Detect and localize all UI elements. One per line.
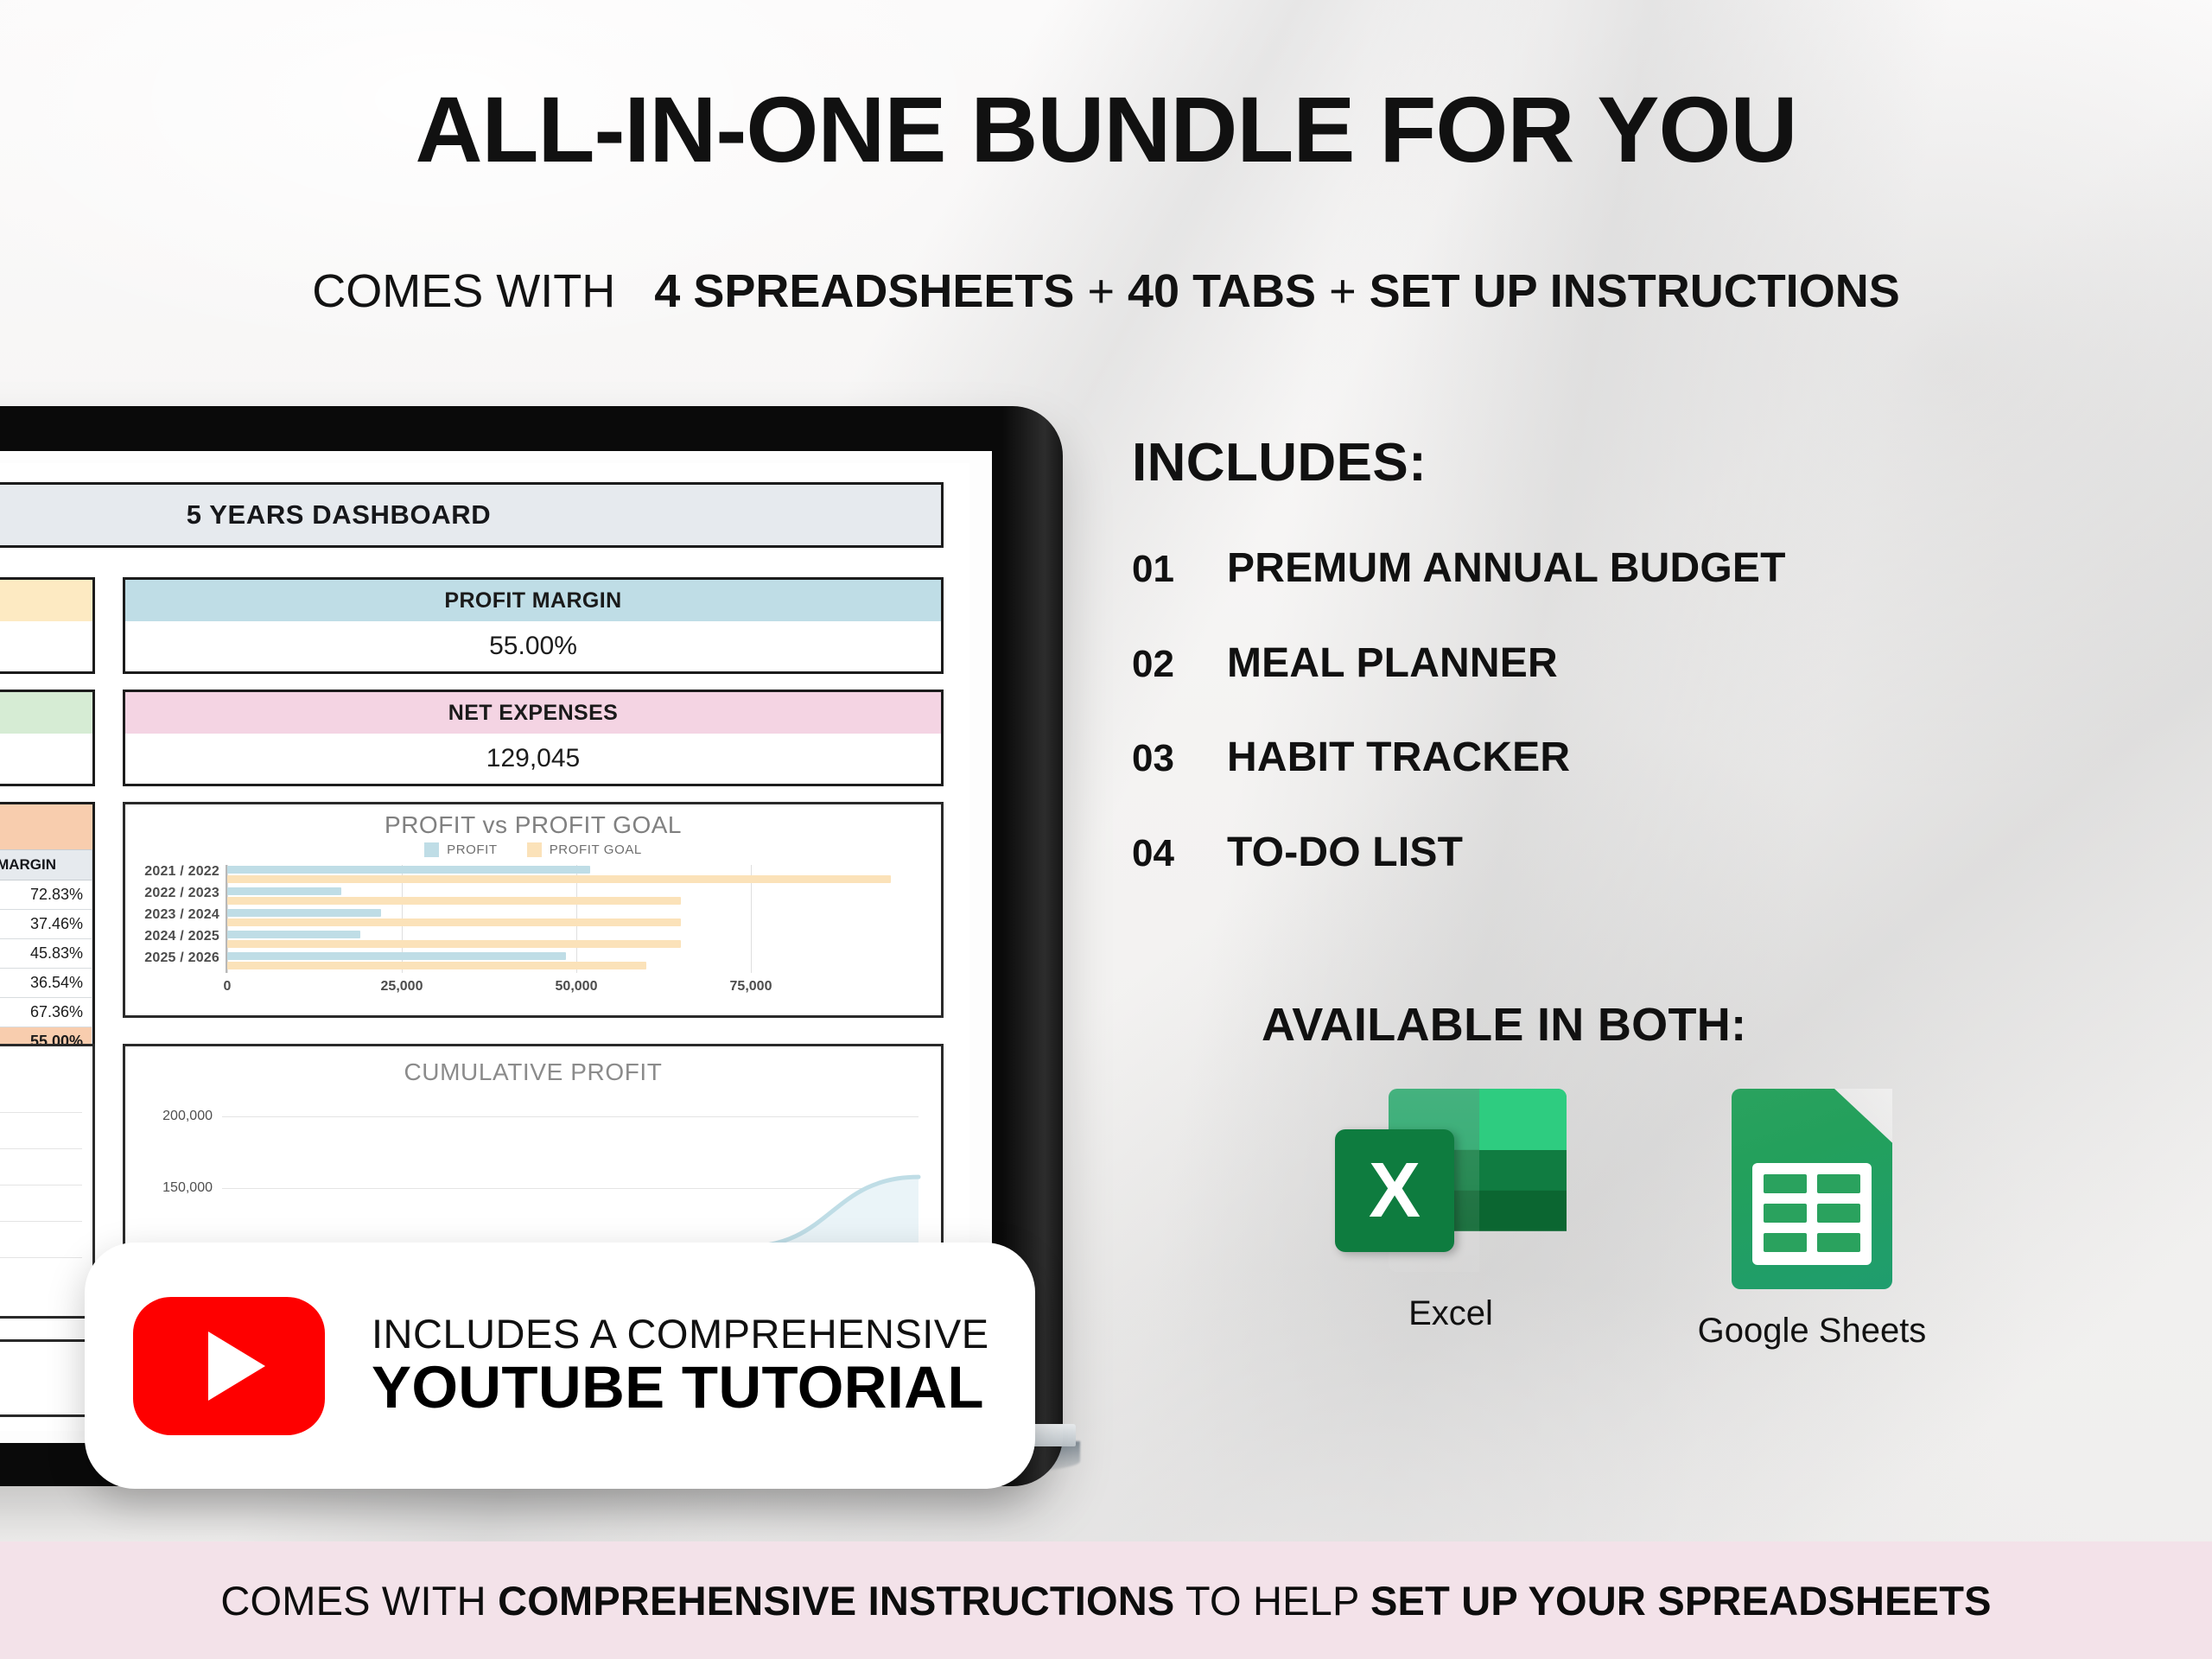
sheets-grid-cell — [1817, 1233, 1860, 1252]
bar-profit — [227, 952, 566, 960]
x-axis-tick-label: 75,000 — [730, 979, 772, 995]
kpi-card-loss: LOSS 5 — [0, 577, 95, 674]
cash-flow-legend: SES PROFIT — [0, 1080, 92, 1100]
table-row: 22,000.00 $ 65,000.00 45.83% — [0, 939, 92, 969]
includes-item-3: 03 HABIT TRACKER — [1132, 734, 1570, 781]
play-triangle-icon — [208, 1332, 265, 1401]
overview-table-panel: RVIEW PROFIT PROFIT GOAL MARGIN 51,920.0… — [0, 802, 95, 1059]
platform-excel: X Excel — [1331, 1089, 1571, 1351]
sheets-grid-row — [1764, 1233, 1860, 1252]
dashboard-title-bar: 5 YEARS DASHBOARD — [0, 482, 944, 548]
sheets-grid-cell — [1764, 1233, 1807, 1252]
includes-number-2: 02 — [1132, 643, 1227, 686]
youtube-badge-line1: INCLUDES A COMPREHENSIVE — [372, 1313, 989, 1356]
includes-number-1: 01 — [1132, 548, 1227, 591]
available-in-both-heading: AVAILABLE IN BOTH: — [1262, 998, 1746, 1052]
banner-bold-1: COMPREHENSIVE INSTRUCTIONS — [498, 1578, 1174, 1624]
legend-label-profit: PROFIT — [447, 842, 498, 857]
platform-logos: X Excel Google Sheets — [1331, 1089, 1970, 1351]
chart-legend: PROFIT PROFIT GOAL — [125, 842, 941, 857]
includes-heading: INCLUDES: — [1132, 432, 1427, 493]
bar-profit — [227, 866, 590, 874]
youtube-badge-line2: YOUTUBE TUTORIAL — [372, 1356, 989, 1419]
includes-item-2: 02 MEAL PLANNER — [1132, 639, 1558, 687]
kpi-label-loss: LOSS — [0, 580, 92, 621]
cell-margin: 67.36% — [0, 998, 92, 1027]
bar-group: 2022 / 2023 — [227, 887, 918, 907]
banner-lead: COMES WITH — [220, 1578, 486, 1624]
legend-label-profit-goal: PROFIT GOAL — [550, 842, 642, 857]
kpi-label-profit-margin: PROFIT MARGIN — [125, 580, 941, 621]
table-row: 19,000.00 $ 65,000.00 36.54% — [0, 969, 92, 998]
chart-title-cash-flow: LOW — [0, 1046, 92, 1080]
google-sheets-caption: Google Sheets — [1692, 1312, 1932, 1351]
bar-profit-goal — [227, 918, 681, 926]
legend-swatch-profit-goal — [527, 842, 542, 857]
panel-breakdown: AKDOW — [0, 1339, 95, 1417]
bar-group: 2021 / 2022 — [227, 865, 918, 886]
bottom-banner: COMES WITH COMPREHENSIVE INSTRUCTIONS TO… — [0, 1541, 2212, 1659]
table-header-row: PROFIT PROFIT GOAL MARGIN — [0, 850, 92, 880]
includes-label-1: PREMUM ANNUAL BUDGET — [1227, 544, 1786, 592]
includes-item-1: 01 PREMUM ANNUAL BUDGET — [1132, 544, 1786, 592]
excel-caption: Excel — [1331, 1294, 1571, 1333]
legend-item-profit: PROFIT — [424, 842, 498, 857]
y-axis-tick-label: 2023 / 2024 — [144, 907, 219, 923]
chart-title-cumulative-profit: CUMULATIVE PROFIT — [125, 1046, 941, 1086]
y-axis-tick-label: 2022 / 2023 — [144, 886, 219, 901]
bar-group: 2025 / 2026 — [227, 951, 918, 972]
x-axis-tick-label: 25,000 — [381, 979, 423, 995]
sheets-grid-cell — [1817, 1204, 1860, 1223]
kpi-value-profit-margin: 55.00% — [125, 621, 941, 671]
overview-title: RVIEW — [0, 804, 92, 849]
col-margin: MARGIN — [0, 850, 92, 880]
bar-group: 2023 / 2024 — [227, 908, 918, 929]
cell-margin: 36.54% — [0, 969, 92, 998]
kpi-value-income: 0 — [0, 734, 92, 784]
kpi-label-income: ME — [0, 692, 92, 734]
subtitle-plus-1: + — [1087, 265, 1115, 317]
table-row: 16,275.00 $ 65,000.00 37.46% — [0, 910, 92, 939]
y-axis-tick-label: 2021 / 2022 — [144, 864, 219, 880]
x-axis-tick-label: 0 — [224, 979, 232, 995]
banner-bold-2: SET UP YOUR SPREADSHEETS — [1370, 1578, 1992, 1624]
cell-margin: 45.83% — [0, 939, 92, 969]
breakdown-title: AKDOW — [0, 1342, 92, 1388]
bar-group: 2024 / 2025 — [227, 930, 918, 950]
bar-profit-goal — [227, 940, 681, 948]
youtube-play-icon — [133, 1297, 325, 1435]
kpi-card-income: ME 0 — [0, 690, 95, 786]
includes-item-4: 04 TO-DO LIST — [1132, 829, 1463, 876]
chart-title-profit-vs-goal: PROFIT vs PROFIT GOAL — [125, 804, 941, 839]
kpi-label-net-expenses: NET EXPENSES — [125, 692, 941, 734]
subtitle-lead: COMES WITH — [312, 265, 615, 317]
cash-flow-plot-area: 2024 — [0, 1112, 82, 1281]
banner-mid: TO HELP — [1185, 1578, 1359, 1624]
bar-profit — [227, 909, 381, 917]
legend-item-profit-goal: PROFIT GOAL — [527, 842, 642, 857]
sheets-grid-cell — [1817, 1174, 1860, 1193]
overview-table: PROFIT PROFIT GOAL MARGIN 51,920.00 $ 95… — [0, 849, 92, 1057]
bar-profit — [227, 887, 341, 895]
bar-profit-goal — [227, 875, 891, 883]
page-title: ALL-IN-ONE BUNDLE FOR YOU — [0, 83, 2212, 176]
page-subtitle: COMES WITH 4 SPREADSHEETS + 40 TABS + SE… — [0, 268, 2212, 315]
y-axis-tick-label: 150,000 — [162, 1180, 213, 1196]
y-axis-tick-label: 2025 / 2026 — [144, 950, 219, 966]
x-axis-tick-label: 50,000 — [556, 979, 598, 995]
excel-x-glyph: X — [1369, 1152, 1421, 1230]
table-row: 51,920.00 $ 95,000.00 72.83% — [0, 880, 92, 910]
includes-number-3: 03 — [1132, 737, 1227, 780]
sheets-grid-row — [1764, 1204, 1860, 1223]
kpi-value-net-expenses: 129,045 — [125, 734, 941, 784]
kpi-value-loss: 5 — [0, 621, 92, 671]
chart-plot-area: 025,00050,00075,0002021 / 20222022 / 202… — [226, 865, 918, 973]
google-sheets-icon — [1732, 1089, 1892, 1289]
sheets-grid-cell — [1764, 1174, 1807, 1193]
bar-profit — [227, 931, 360, 938]
excel-x-tab: X — [1335, 1129, 1454, 1252]
y-axis-tick-label: 2024 / 2025 — [144, 929, 219, 944]
bottom-banner-text: COMES WITH COMPREHENSIVE INSTRUCTIONS TO… — [220, 1577, 1991, 1624]
cell-margin: 37.46% — [0, 910, 92, 939]
includes-label-2: MEAL PLANNER — [1227, 639, 1558, 687]
sheets-grid-glyph — [1752, 1163, 1872, 1265]
bar-profit-goal — [227, 897, 681, 905]
kpi-card-net-expenses: NET EXPENSES 129,045 — [123, 690, 944, 786]
chart-cash-flow: LOW SES PROFIT — [0, 1044, 95, 1319]
cell-margin: 72.83% — [0, 880, 92, 910]
chart-profit-vs-goal: PROFIT vs PROFIT GOAL PROFIT PROFIT GOAL… — [123, 802, 944, 1018]
subtitle-spreadsheets: 4 SPREADSHEETS — [654, 265, 1074, 317]
youtube-tutorial-badge[interactable]: INCLUDES A COMPREHENSIVE YOUTUBE TUTORIA… — [85, 1243, 1035, 1489]
cash-profit-line — [0, 1107, 87, 1280]
includes-number-4: 04 — [1132, 832, 1227, 875]
includes-label-3: HABIT TRACKER — [1227, 734, 1570, 781]
dashboard-title: 5 YEARS DASHBOARD — [187, 499, 491, 531]
platform-google-sheets: Google Sheets — [1692, 1089, 1932, 1351]
youtube-badge-text: INCLUDES A COMPREHENSIVE YOUTUBE TUTORIA… — [372, 1313, 989, 1419]
includes-label-4: TO-DO LIST — [1227, 829, 1463, 876]
legend-swatch-profit — [424, 842, 439, 857]
table-row: 48,500.00 $ 60,000.00 67.36% — [0, 998, 92, 1027]
excel-icon: X — [1335, 1089, 1567, 1272]
kpi-card-profit-margin: PROFIT MARGIN 55.00% — [123, 577, 944, 674]
y-axis-tick-label: 200,000 — [162, 1109, 213, 1124]
subtitle-plus-2: + — [1329, 265, 1357, 317]
sheets-grid-row — [1764, 1174, 1860, 1193]
sheets-grid-cell — [1764, 1204, 1807, 1223]
subtitle-instructions: SET UP INSTRUCTIONS — [1370, 265, 1900, 317]
subtitle-tabs: 40 TABS — [1128, 265, 1316, 317]
bar-profit-goal — [227, 962, 646, 969]
